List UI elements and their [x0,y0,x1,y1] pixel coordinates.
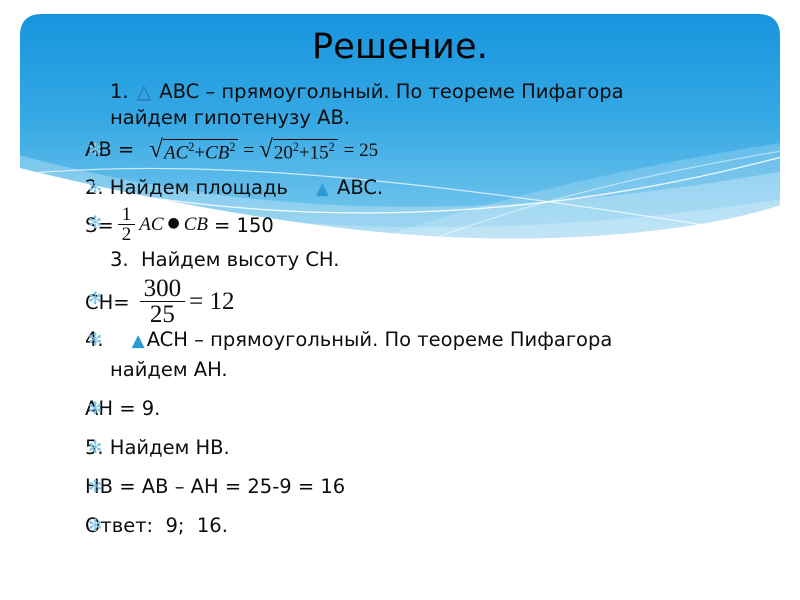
list-item: ✻ CH= 300 25 = 12 [0,276,800,328]
plus-sign: + [194,143,205,164]
equals-25: = 25 [339,140,378,162]
list-item: 1. △ ABC – прямоугольный. По теореме Пиф… [0,80,800,106]
bullet-icon: ✻ [88,139,102,161]
step3-text: 3. Найдем высоту CH. [110,248,339,271]
list-item: ✻ Ответ: 9; 16. [0,514,800,540]
step4-text-cont: найдем AH. [110,358,228,381]
exponent: 2 [329,140,335,154]
list-item: ✻ 2. Найдем площадь ▲ ABC. [0,176,800,202]
step2-subject: ABC. [337,176,383,199]
radical-2: √ 202+152 [259,138,338,164]
term-cb: CB [205,143,229,164]
slide-body: 1. △ ABC – прямоугольный. По теореме Пиф… [0,80,800,540]
bullet-icon: ✻ [88,437,102,459]
exponent: 2 [229,140,235,154]
radical-1-body: AC2+CB2 [163,139,238,165]
answer-text: Ответ: 9; 16. [85,514,228,537]
ch-result: = 12 [189,287,234,317]
triangle-filled-icon: ▲ [314,179,331,199]
equals-1: = [239,140,258,162]
slide: Решение. 1. △ ABC – прямоугольный. По те… [0,0,800,600]
list-item: ✻ AB = √ AC2+CB2 = √ 202+152 = 25 [0,138,800,164]
page-title: Решение. [0,28,800,67]
radical-sign-icon: √ [149,139,163,165]
triangle-filled-icon: ▲ [130,331,147,351]
list-item: ✻ 5. Найдем HB. [0,436,800,462]
fraction-denominator: 2 [118,225,136,245]
list-item: ✻ AH = 9. [0,397,800,423]
list-item-continuation: найдем AH. [0,358,800,384]
term-cb: CB [184,214,208,236]
term-ac: AC [164,143,188,164]
fraction-numerator: 300 [140,276,186,302]
fraction-300-over-25: 300 25 [140,276,186,328]
bullet-icon: ✻ [88,398,102,420]
triangle-hollow-icon: △ [135,81,154,103]
bullet-icon: ✻ [88,212,102,234]
fraction-denominator: 25 [146,302,179,328]
bullet-icon: ✻ [88,288,102,310]
bullet-icon: ✻ [88,329,102,351]
fraction-one-half: 1 2 [118,205,136,245]
radical-sign-icon: √ [259,139,273,165]
bullet-icon: ✻ [88,177,102,199]
step5-text: 5. Найдем HB. [85,436,230,459]
list-item: ✻ S= 1 2 AC ● CB = 150 [0,204,800,246]
fraction-numerator: 1 [118,205,136,225]
plus-sign: + [299,143,310,164]
step1-text: ABC – прямоугольный. По теореме Пифагора [159,80,623,103]
list-item-continuation: найдем гипотенузу AB. [0,106,800,132]
term-15: 15 [310,143,329,164]
multiplication-dot-icon: ● [164,215,184,232]
step1-number: 1. [110,80,129,103]
bullet-icon: ✻ [88,515,102,537]
area-result: = 150 [214,214,274,237]
step1-text-cont: найдем гипотенузу AB. [110,106,350,129]
radical-2-body: 202+152 [273,139,338,165]
list-item: 3. Найдем высоту CH. [0,248,800,274]
term-ac: AC [139,214,163,236]
list-item: ✻ 4. ▲ ACH – прямоугольный. По теореме П… [0,328,800,354]
step4-text: ACH – прямоугольный. По теореме Пифагора [147,328,613,351]
step2-text: 2. Найдем площадь [85,176,288,199]
radical-1: √ AC2+CB2 [149,138,238,164]
hb-equation: HB = AB – AH = 25-9 = 16 [85,475,345,498]
term-20: 20 [274,143,293,164]
list-item: ✻ HB = AB – AH = 25-9 = 16 [0,475,800,501]
bullet-icon: ✻ [88,476,102,498]
